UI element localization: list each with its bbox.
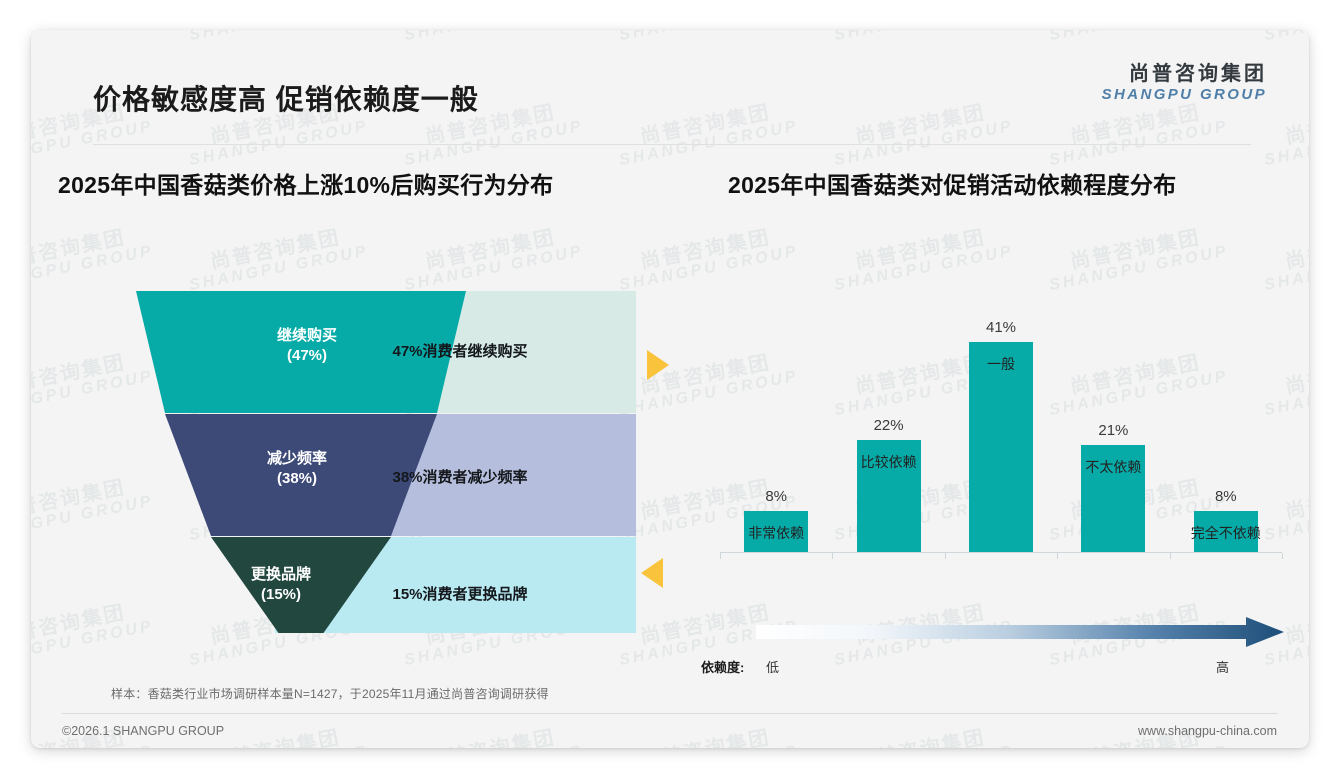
funnel-stage-name-2: 更换品牌 [251, 566, 311, 583]
brand-logo-en: SHANGPU GROUP [1102, 86, 1267, 104]
bar-category-label: 比较依赖 [841, 452, 937, 472]
funnel-side-text-0: 47%消费者继续购买 [315, 340, 605, 361]
axis-tick [945, 553, 946, 559]
bar-column[interactable]: 8%非常依赖 [744, 511, 808, 552]
brand-logo-cn: 尚普咨询集团 [1102, 62, 1267, 86]
axis-tick [720, 553, 721, 559]
watermark-tile: 尚普咨询集团SHANGPU GROUP [614, 723, 800, 748]
sample-footnote: 样本：香菇类行业市场调研样本量N=1427，于2025年11月通过尚普咨询调研获… [111, 685, 549, 702]
dependency-bar-chart: 8%非常依赖22%比较依赖41%一般21%不太依赖8%完全不依赖 [686, 230, 1286, 600]
page-title: 价格敏感度高 促销依赖度一般 [93, 78, 479, 118]
bar-column[interactable]: 21%不太依赖 [1081, 445, 1145, 552]
bar-column[interactable]: 41%一般 [969, 342, 1033, 552]
dependency-legend: 依赖度: 低 高 [671, 615, 1291, 685]
bar-category-label: 非常依赖 [728, 523, 824, 543]
watermark-tile: 尚普咨询集团SHANGPU GROUP [399, 723, 585, 748]
bar-category-label: 完全不依赖 [1178, 523, 1274, 543]
axis-tick [1170, 553, 1171, 559]
axis-tick [832, 553, 833, 559]
slide-card: 尚普咨询集团SHANGPU GROUP尚普咨询集团SHANGPU GROUP尚普… [31, 30, 1309, 748]
bar-value-label: 21% [1081, 422, 1145, 439]
bar-value-label: 8% [1194, 488, 1258, 505]
bar-value-label: 8% [744, 488, 808, 505]
bar-value-label: 41% [969, 319, 1033, 336]
axis-tick [1057, 553, 1058, 559]
bar-column[interactable]: 22%比较依赖 [857, 440, 921, 552]
funnel-stage-value-1: (38%) [277, 470, 317, 487]
funnel-chart: 继续购买 (47%) 减少频率 (38%) 更换品牌 (15%) 47%消费者继… [62, 233, 662, 633]
bar-category-label: 不太依赖 [1065, 457, 1161, 477]
right-chart-heading: 2025年中国香菇类对促销活动依赖程度分布 [728, 166, 1176, 200]
funnel-stage-value-2: (15%) [261, 586, 301, 603]
triangle-left-icon [637, 556, 667, 590]
left-chart-heading: 2025年中国香菇类价格上涨10%后购买行为分布 [58, 166, 553, 200]
legend-high-label: 高 [1216, 657, 1229, 676]
footer-divider [62, 713, 1278, 714]
bar-value-label: 22% [857, 417, 921, 434]
footer-website: www.shangpu-china.com [1138, 724, 1277, 738]
legend-title: 依赖度: [701, 657, 744, 676]
funnel-side-text-1: 38%消费者减少频率 [315, 466, 605, 487]
funnel-side-text-2: 15%消费者更换品牌 [315, 583, 605, 604]
funnel-stage-name-1: 减少频率 [267, 450, 327, 467]
header-divider [93, 144, 1251, 145]
bar-category-label: 一般 [953, 354, 1049, 374]
axis-tick [1282, 553, 1283, 559]
bar-chart-axis [720, 552, 1282, 553]
footer-copyright: ©2026.1 SHANGPU GROUP [62, 724, 224, 738]
watermark-tile: 尚普咨询集团SHANGPU GROUP [829, 723, 1015, 748]
triangle-right-icon [643, 348, 673, 382]
slide-header: 价格敏感度高 促销依赖度一般 尚普咨询集团 SHANGPU GROUP [31, 30, 1309, 122]
legend-low-label: 低 [766, 657, 779, 676]
bar-column[interactable]: 8%完全不依赖 [1194, 511, 1258, 552]
brand-logo: 尚普咨询集团 SHANGPU GROUP [1102, 62, 1267, 104]
legend-gradient-arrow [756, 615, 1286, 649]
